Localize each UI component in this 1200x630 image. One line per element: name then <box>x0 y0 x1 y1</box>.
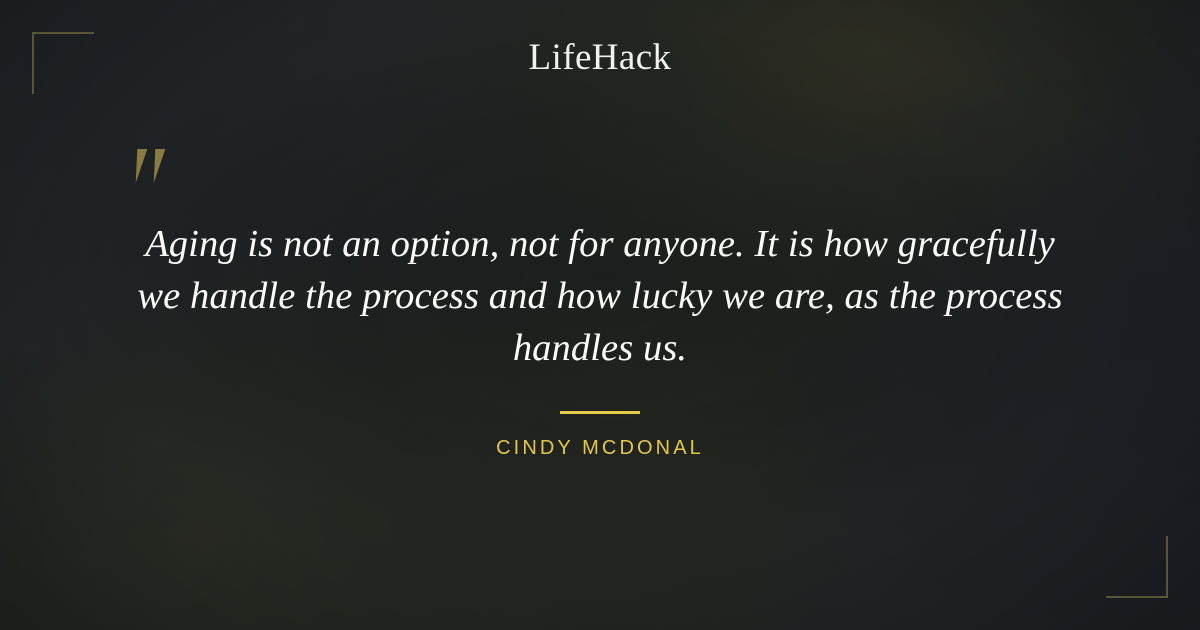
quote-card: LifeHack Aging is not an option, not for… <box>0 0 1200 630</box>
double-quote-icon <box>131 143 175 191</box>
card-content: LifeHack Aging is not an option, not for… <box>0 0 1200 630</box>
brand-logo[interactable]: LifeHack <box>0 38 1200 79</box>
quote-author: CINDY MCDONAL <box>0 437 1200 460</box>
quote-line: Aging is not an option, not for anyone. … <box>100 218 1100 270</box>
quote-line: we handle the process and how lucky we a… <box>100 270 1100 322</box>
quote-text: Aging is not an option, not for anyone. … <box>100 218 1100 374</box>
gold-divider <box>560 411 640 414</box>
quote-stroke-right <box>149 149 166 183</box>
quote-line: handles us. <box>100 322 1100 374</box>
quote-stroke-left <box>131 149 148 183</box>
